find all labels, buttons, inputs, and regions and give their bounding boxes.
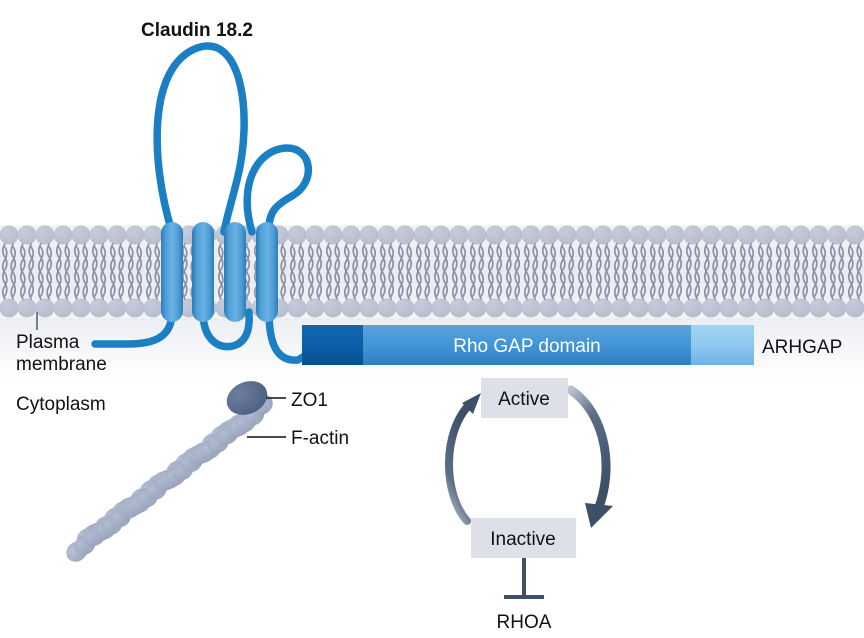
helix-2 [192, 222, 214, 322]
page-title: Claudin 18.2 [141, 20, 253, 41]
helix-4 [256, 222, 278, 322]
arhgap-domain-bar: Rho GAP domain [302, 325, 754, 365]
rhoa-label: RHOA [497, 612, 552, 633]
claudin-arhgap-diagram: Rho GAP domain ARHGAP Claudin 18.2 Plasm… [0, 0, 864, 638]
arhgap-c-terminal-segment [691, 325, 754, 365]
plasma-membrane-label-line1: Plasma [16, 332, 80, 353]
cytoplasm-label: Cytoplasm [16, 394, 106, 415]
arhgap-n-terminal-segment [302, 325, 363, 365]
arhgap-label: ARHGAP [762, 337, 842, 358]
f-actin-label: F-actin [291, 428, 349, 449]
zo1-label: ZO1 [291, 390, 328, 411]
active-state-label: Active [498, 389, 550, 410]
helix-3 [224, 222, 246, 322]
helix-1 [161, 222, 183, 322]
rho-gap-domain-label: Rho GAP domain [453, 336, 601, 357]
figure-canvas: Rho GAP domain ARHGAP Claudin 18.2 Plasm… [0, 0, 864, 638]
plasma-membrane-label-line2: membrane [16, 354, 107, 375]
inactive-state-label: Inactive [490, 529, 555, 550]
